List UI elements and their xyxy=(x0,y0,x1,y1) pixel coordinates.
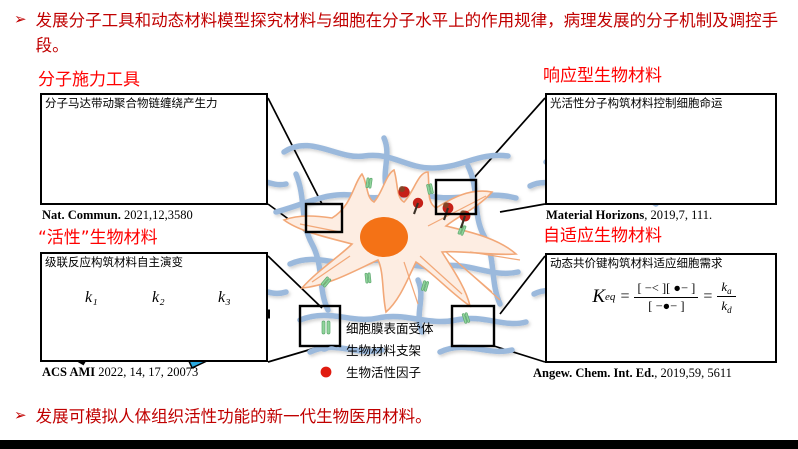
citation-journal-tl: Nat. Commun. xyxy=(42,208,121,222)
panel-top-left: 分子马达带动聚合物链缠绕产生力 xyxy=(40,93,268,205)
panel-heading-adaptive-biomaterial: 自适应生物材料 xyxy=(543,226,662,246)
citation-journal-bl: ACS AMI xyxy=(42,365,95,379)
citation-journal-br: Angew. Chem. Int. Ed. xyxy=(533,366,654,380)
eq-ka-sub: a xyxy=(727,286,732,296)
equilibrium-equation: Keq = [ −< ][ ●− ] [ −●− ] = ka kd xyxy=(569,279,759,315)
panel-caption-top-left: 分子马达带动聚合物链缠绕产生力 xyxy=(45,96,218,111)
top-bullet-statement: ➢ 发展分子工具和动态材料模型探究材料与细胞在分子水平上的作用规律，病理发展的分… xyxy=(14,8,786,58)
figure-legend: 细胞膜表面受体 生物材料支架 生物活性因子 xyxy=(306,318,434,381)
rate-constant-k1: k₁ xyxy=(85,289,98,307)
zoom-box-bottom-right xyxy=(452,306,494,346)
bottom-bullet-statement: ➢ 发展可模拟人体组织活性功能的新一代生物医用材料。 xyxy=(14,404,786,429)
citation-detail-tl: 2021,12,3580 xyxy=(121,208,193,222)
legend-item-bioactive-factor: 生物活性因子 xyxy=(306,362,434,381)
bottom-bullet-text: 发展可模拟人体组织活性功能的新一代生物医用材料。 xyxy=(36,404,432,429)
top-bullet-text: 发展分子工具和动态材料模型探究材料与细胞在分子水平上的作用规律，病理发展的分子机… xyxy=(36,8,786,58)
eq-equals-1: = xyxy=(620,288,629,306)
citation-top-right: Material Horizons, 2019,7, 111. xyxy=(546,208,712,223)
rate-constant-k2: k₂ xyxy=(152,289,165,307)
panel-top-right: 光活性分子构筑材料控制细胞命运 xyxy=(545,93,777,205)
receptor-icon xyxy=(306,320,346,335)
legend-item-scaffold: 生物材料支架 xyxy=(306,340,434,359)
panel-caption-top-right: 光活性分子构筑材料控制细胞命运 xyxy=(550,96,723,111)
panel-bottom-left: 级联反应构筑材料自主演变 xyxy=(40,252,268,362)
scaffold-wave-icon xyxy=(306,344,346,356)
rate-constant-k3: k₃ xyxy=(218,289,231,307)
panel-heading-living-biomaterial: “活性”生物材料 xyxy=(38,228,158,248)
legend-label-scaffold: 生物材料支架 xyxy=(346,340,421,359)
eq-equals-2: = xyxy=(703,288,712,306)
figure-area: F xyxy=(0,56,798,404)
eq-K: K xyxy=(592,286,605,308)
legend-label-bioactive-factor: 生物活性因子 xyxy=(346,362,421,381)
citation-top-left: Nat. Commun. 2021,12,3580 xyxy=(42,208,193,223)
panel-caption-bottom-left: 级联反应构筑材料自主演变 xyxy=(45,255,183,270)
slide-bottom-bar xyxy=(0,440,798,449)
eq-K-sub: eq xyxy=(605,291,615,303)
eq-denominator: [ −●− ] xyxy=(648,298,684,314)
legend-label-receptor: 细胞膜表面受体 xyxy=(346,318,434,337)
citation-detail-bl: 2022, 14, 17, 20073 xyxy=(95,365,198,379)
cell-nucleus xyxy=(360,217,408,257)
legend-item-receptor: 细胞膜表面受体 xyxy=(306,318,434,337)
citation-journal-tr: Material Horizons xyxy=(546,208,644,222)
citation-bottom-left: ACS AMI 2022, 14, 17, 20073 xyxy=(42,365,198,380)
bullet-arrow-icon: ➢ xyxy=(14,8,27,31)
citation-bottom-right: Angew. Chem. Int. Ed., 2019,59, 5611 xyxy=(533,366,732,381)
eq-numerator: [ −< ][ ●− ] xyxy=(634,281,698,298)
eq-kd-sub: d xyxy=(727,305,732,315)
panel-bottom-right: 动态共价键构筑材料适应细胞需求 Keq = [ −< ][ ●− ] [ −●−… xyxy=(545,253,777,363)
citation-detail-br: , 2019,59, 5611 xyxy=(654,366,732,380)
panel-heading-responsive-biomaterial: 响应型生物材料 xyxy=(543,66,662,86)
bioactive-dot-icon xyxy=(306,365,346,379)
panel-caption-bottom-right: 动态共价键构筑材料适应细胞需求 xyxy=(550,256,723,271)
panel-heading-molecular-force-tool: 分子施力工具 xyxy=(38,70,140,90)
bullet-arrow-icon-bottom: ➢ xyxy=(14,404,27,427)
citation-detail-tr: , 2019,7, 111. xyxy=(644,208,712,222)
